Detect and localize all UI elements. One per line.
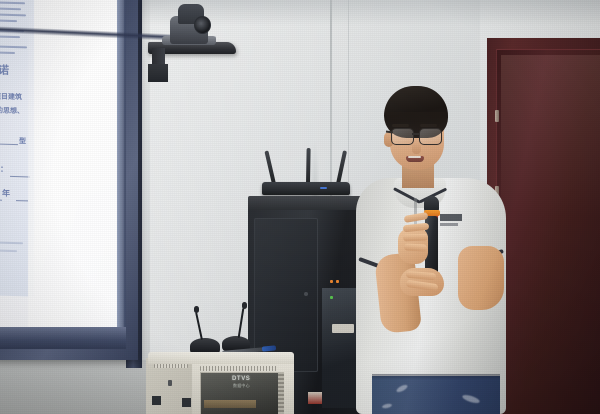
finger-ring: [403, 234, 428, 242]
ptz-conference-camera[interactable]: [148, 4, 240, 78]
rack-led-power: [330, 280, 333, 283]
glasses-bridge: [412, 133, 420, 135]
eyebrow-right: [420, 124, 437, 127]
router-body: [262, 182, 350, 195]
gooseneck-mic-capsule-2: [242, 302, 247, 309]
cabinet-top: [148, 352, 294, 364]
projected-doc-line-6: 年: [2, 188, 10, 199]
network-cabinet[interactable]: DTVS 数据中心: [146, 352, 294, 414]
jeans: [372, 376, 500, 414]
screen-frame-bottom: [0, 327, 126, 349]
glasses-lens-right: [419, 128, 442, 145]
finger-pinky: [404, 243, 427, 251]
projected-document: 诺 项目建筑 的思想、 型 人： 年: [0, 0, 34, 297]
waist-shadow: [372, 374, 500, 380]
projected-doc-line-4: 型: [19, 136, 26, 146]
cabinet-vent-square-2: [182, 398, 191, 407]
eyebrow-left: [392, 124, 409, 127]
gooseneck-mic-capsule-1: [194, 306, 199, 313]
router-antenna-1: [264, 150, 276, 184]
router-antenna-3: [336, 150, 347, 184]
projected-doc-line-2: 项目建筑: [0, 91, 22, 102]
rack-door-knob[interactable]: [304, 292, 308, 296]
router-status-led: [320, 187, 327, 189]
cabinet-vent-front: [200, 366, 278, 371]
rack-led-link: [336, 280, 339, 283]
projected-doc-line-1: 诺: [0, 62, 9, 78]
cabinet-shelf-item: [204, 400, 256, 408]
cabinet-vent-square-1: [152, 396, 161, 405]
projected-doc-line-3: 的思想、: [0, 106, 24, 117]
router-antenna-2: [306, 148, 311, 184]
teeth: [408, 156, 421, 158]
cabinet-vent-side: [154, 364, 188, 368]
cabinet-mount-rail: [278, 372, 284, 414]
arm-right: [458, 246, 504, 310]
scene-root: 诺 项目建筑 的思想、 型 人： 年: [0, 0, 600, 414]
projection-screen[interactable]: 诺 项目建筑 的思想、 型 人： 年: [0, 0, 138, 360]
camera-lens-icon: [194, 16, 211, 34]
camera-wall-bracket: [148, 64, 168, 82]
rack-warning-tag: [308, 392, 322, 404]
cabinet-brand-sublabel: 数据中心: [233, 383, 250, 389]
cabinet-lock-icon[interactable]: [168, 380, 172, 386]
nose: [412, 142, 421, 154]
cabinet-brand-label: DTVS: [232, 376, 250, 382]
wifi-router[interactable]: [262, 150, 354, 200]
rack-led-status: [330, 296, 333, 299]
projected-doc-line-5: 人：: [0, 163, 8, 174]
glasses-lens-left: [391, 128, 414, 145]
screen-frame-right: [117, 0, 126, 340]
